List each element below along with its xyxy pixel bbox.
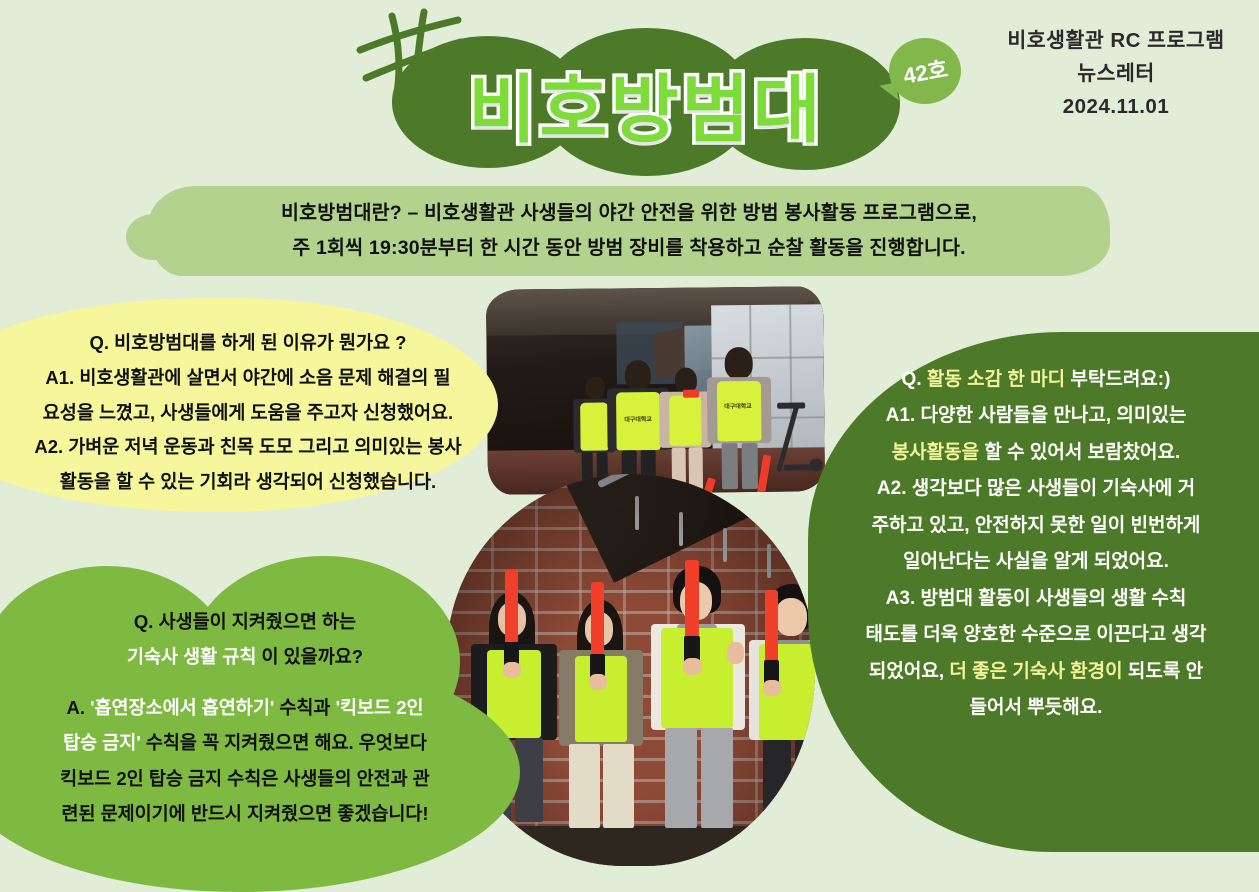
qa-yellow-answer-2a: A2. 가벼운 저녁 운동과 친목 도모 그리고 의미있는 봉사 <box>8 430 488 465</box>
qa-dark-a1-highlight: 봉사활동을 <box>892 442 979 463</box>
qa-dark-a3-suffix: 되도록 안 <box>1123 661 1203 682</box>
qa-dark-q-suffix: 부탁드려요:) <box>1065 369 1170 390</box>
qa-dark-a2-line3: 일어난다는 사실을 알게 되었어요. <box>818 544 1254 580</box>
qa-dark-a3-prefix: 되었어요, <box>869 661 949 682</box>
newsletter-poster: 비호방범대 42호 비호생활관 RC 프로그램 뉴스레터 2024.11.01 … <box>0 0 1259 892</box>
qa-yellow-text: Q. 비호방범대를 하게 된 이유가 뭔가요 ? A1. 비호생활관에 살면서 … <box>8 326 488 500</box>
qa-dark-a3-line1: A3. 방범대 활동이 사생들의 생활 수칙 <box>818 581 1254 617</box>
qa-green-answer-line1: A. '흡연장소에서 흡연하기' 수칙과 '킥보드 2인 <box>10 690 480 725</box>
qa-green-answer-line3: 킥보드 2인 탑승 금지 수칙은 사생들의 안전과 관 <box>10 761 480 796</box>
qa-green-a-prefix: A. <box>66 697 90 718</box>
qa-dark-question: Q. 활동 소감 한 마디 부탁드려요:) <box>818 362 1254 398</box>
masthead-line-newsletter: 뉴스레터 <box>985 57 1247 90</box>
qa-green-a-highlight-3: 탑승 금지' <box>63 732 141 753</box>
qa-dark-q-prefix: Q. <box>902 369 927 390</box>
qa-green-a-highlight-2: '킥보드 2인 <box>336 697 424 718</box>
masthead-line-date: 2024.11.01 <box>985 90 1247 123</box>
night-patrol-photo: 대구대학교 대구대학교 <box>486 286 825 495</box>
masthead: 비호생활관 RC 프로그램 뉴스레터 2024.11.01 <box>985 24 1247 124</box>
qa-dark-text: Q. 활동 소감 한 마디 부탁드려요:) A1. 다양한 사람들을 만나고, … <box>818 362 1254 727</box>
qa-green-q-suffix: 이 있을까요? <box>256 646 363 667</box>
issue-badge-label: 42호 <box>900 51 950 90</box>
qa-dark-a3-highlight: 더 좋은 기숙사 환경이 <box>949 661 1122 682</box>
intro-line-1: 비호방범대란? – 비호생활관 사생들의 야간 안전을 위한 방범 봉사활동 프… <box>148 196 1110 231</box>
qa-dark-a1-line2: 봉사활동을 할 수 있어서 보람찼어요. <box>818 435 1254 471</box>
qa-dark-a3-line3: 되었어요, 더 좋은 기숙사 환경이 되도록 안 <box>818 654 1254 690</box>
qa-green-q-highlight: 기숙사 생활 규칙 <box>127 646 256 667</box>
qa-green-a-line2-rest: 수칙을 꼭 지켜줬으면 해요. 우엇보다 <box>141 732 427 753</box>
intro-text: 비호방범대란? – 비호생활관 사생들의 야간 안전을 위한 방범 봉사활동 프… <box>148 196 1110 265</box>
qa-green-question-line1: Q. 사생들이 지켜줬으면 하는 <box>10 604 480 639</box>
qa-dark-a2-line2: 주하고 있고, 안전하지 못한 일이 빈번하게 <box>818 508 1254 544</box>
issue-badge: 42호 <box>889 38 961 104</box>
qa-green-question-line2: 기숙사 생활 규칙 이 있을까요? <box>10 639 480 674</box>
intro-line-2: 주 1회씩 19:30분부터 한 시간 동안 방범 장비를 착용하고 순찰 활동… <box>148 231 1110 266</box>
qa-yellow-question: Q. 비호방범대를 하게 된 이유가 뭔가요 ? <box>8 326 488 361</box>
qa-dark-q-highlight: 활동 소감 한 마디 <box>927 369 1065 390</box>
qa-dark-a3-line4: 들어서 뿌듯해요. <box>818 690 1254 726</box>
qa-dark-a1-rest: 할 수 있어서 보람찼어요. <box>979 442 1180 463</box>
qa-yellow-answer-1b: 요성을 느꼈고, 사생들에게 도움을 주고자 신청했어요. <box>8 396 488 431</box>
qa-green-answer-line4: 련된 문제이기에 반드시 지켜줬으면 좋겠습니다! <box>10 796 480 831</box>
qa-dark-a3-line2: 태도를 더욱 양호한 수준으로 이끈다고 생각 <box>818 617 1254 653</box>
qa-dark-a2-line1: A2. 생각보다 많은 사생들이 기숙사에 거 <box>818 471 1254 507</box>
qa-green-answer-line2: 탑승 금지' 수칙을 꼭 지켜줬으면 해요. 우엇보다 <box>10 725 480 760</box>
qa-green-a-highlight-1: '흡연장소에서 흡연하기' <box>90 697 274 718</box>
qa-green-text: Q. 사생들이 지켜줬으면 하는 기숙사 생활 규칙 이 있을까요? A. '흡… <box>10 604 480 831</box>
qa-dark-a1-line1: A1. 다양한 사람들을 만나고, 의미있는 <box>818 398 1254 434</box>
qa-yellow-answer-1a: A1. 비호생활관에 살면서 야간에 소음 문제 해결의 필 <box>8 361 488 396</box>
qa-yellow-answer-2b: 활동을 할 수 있는 기회라 생각되어 신청했습니다. <box>8 465 488 500</box>
qa-green-a-mid: 수칙과 <box>274 697 335 718</box>
page-title: 비호방범대 <box>392 40 900 166</box>
masthead-line-program: 비호생활관 RC 프로그램 <box>985 24 1247 57</box>
